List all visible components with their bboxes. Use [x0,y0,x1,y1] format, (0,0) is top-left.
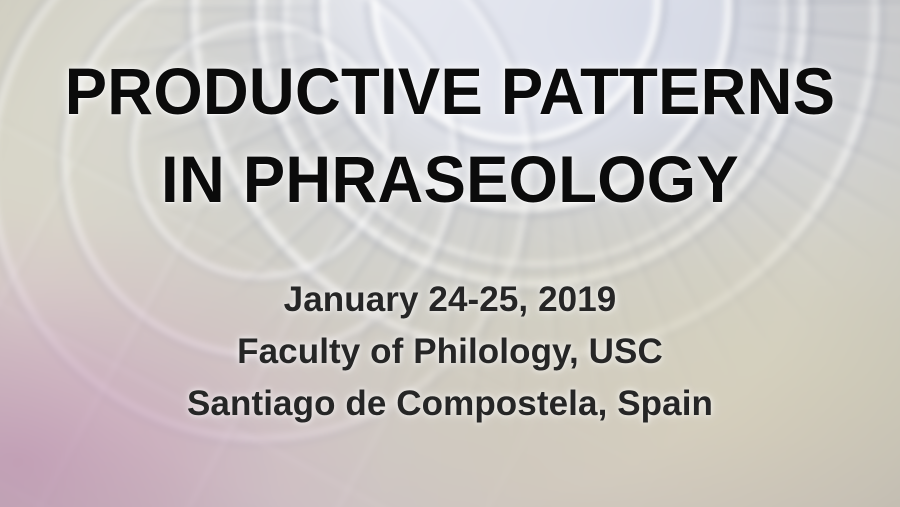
title-line-1: PRODUCTIVE PATTERNS [18,58,882,124]
slide-content: PRODUCTIVE PATTERNS IN PHRASEOLOGY Janua… [0,0,900,507]
title-line-2: IN PHRASEOLOGY [18,146,882,212]
subtitle-location: Santiago de Compostela, Spain [0,378,900,430]
subtitle-date: January 24-25, 2019 [0,274,900,326]
slide-subtitle: January 24-25, 2019 Faculty of Philology… [0,274,900,430]
title-slide: PRODUCTIVE PATTERNS IN PHRASEOLOGY Janua… [0,0,900,507]
subtitle-venue: Faculty of Philology, USC [0,326,900,378]
slide-title: PRODUCTIVE PATTERNS IN PHRASEOLOGY [0,58,900,212]
